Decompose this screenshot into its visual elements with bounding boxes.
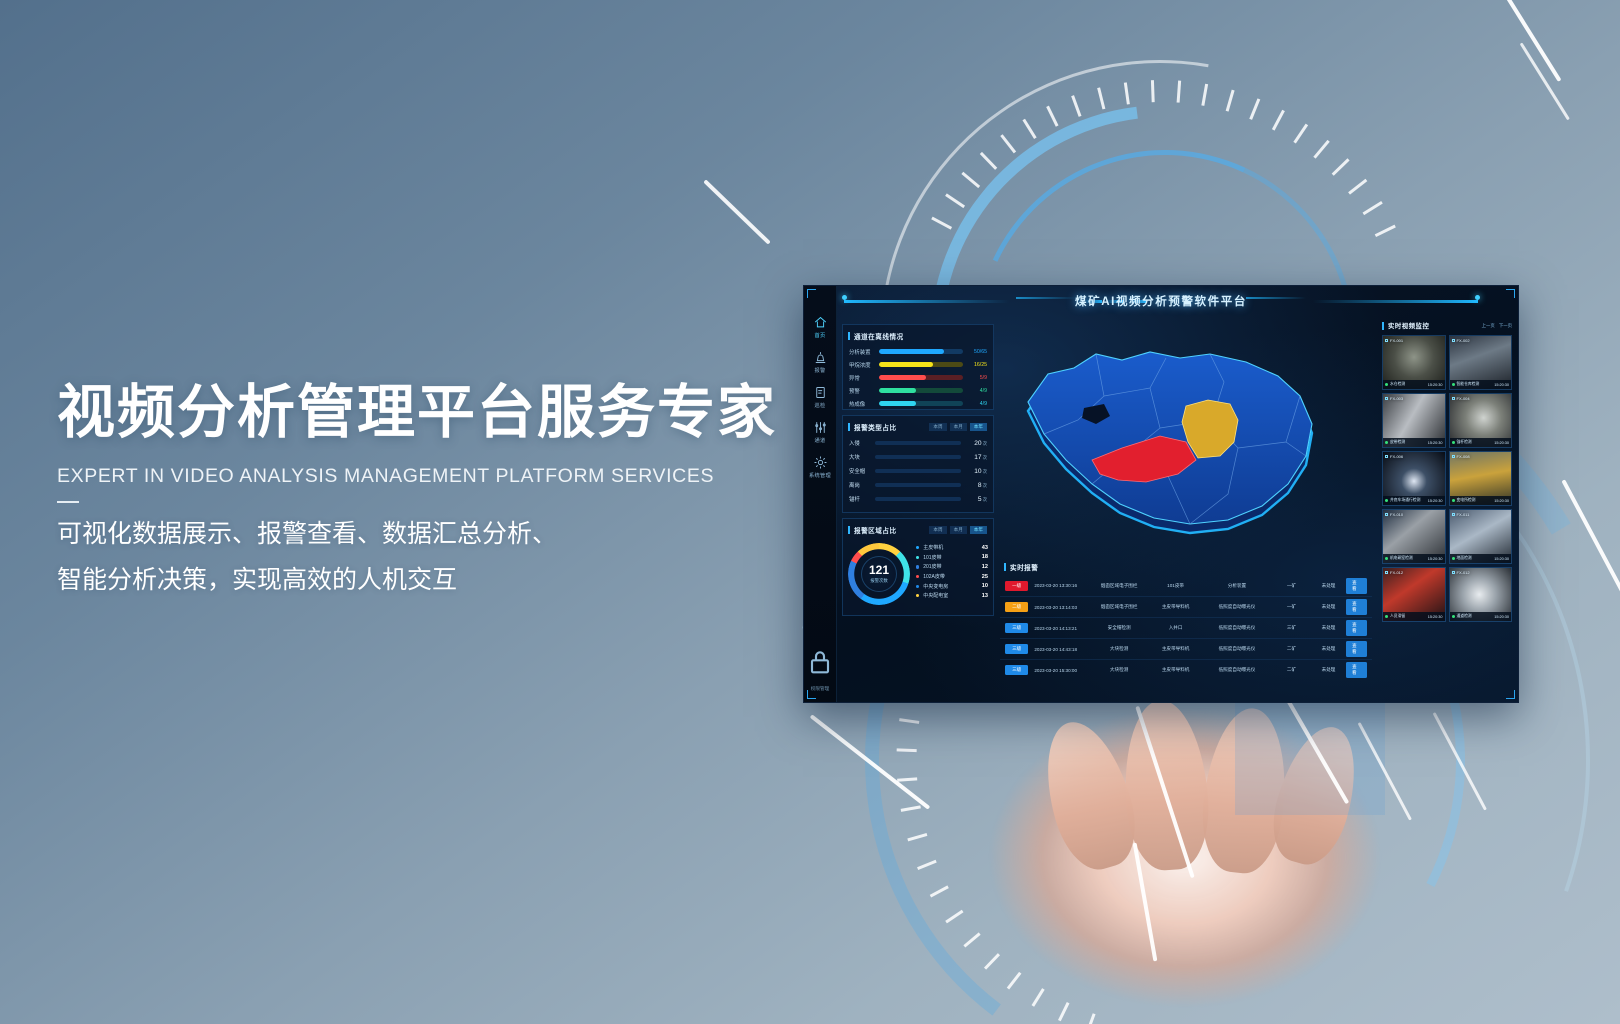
frame-corner [807,289,816,298]
accent-bar [848,423,850,431]
sidebar-item-3[interactable]: 巡检 [804,378,836,413]
status-badge: 一级 [1005,581,1028,591]
light-streak [1495,0,1562,82]
alarm-device: 低照度自动曝光仪 [1202,646,1272,652]
alarm-type: 大块检测 [1089,646,1149,652]
panel-header: 实时视频监控 上一页 下一页 [1382,319,1516,332]
sidebar-item-label: 首页 [804,332,836,339]
alarm-status: 未处理 [1311,625,1346,631]
alarm-device: 分析装置 [1202,583,1272,589]
alarm-time: 2023-03-20 13:14:03 [1028,605,1089,610]
alarm-type-tabs[interactable]: 本周本月本年 [929,423,987,431]
legend-value: 13 [982,593,988,599]
video-name: 锚杆检测 [1457,440,1472,445]
channel-label: 热成像 [849,400,879,408]
tick-mark [945,193,965,208]
video-tile[interactable]: FX-012通道检测15:20:30 [1449,567,1513,622]
accent-bar [1004,563,1006,571]
channel-label: 预警 [849,387,879,395]
video-tile[interactable]: FX-004锚杆检测15:20:30 [1449,393,1513,448]
province-map[interactable] [1000,324,1372,554]
video-name: 机电硐室检测 [1390,556,1413,561]
video-name: 智能仓库检测 [1457,382,1480,387]
legend-label: 主皮带机 [923,544,982,551]
tick-mark [1000,134,1016,153]
alarm-type-panel: 报警类型占比 本周本月本年 入侵20次大块17次安全帽10次离岗8次锚杆5次 [842,415,994,513]
frame-corner [807,690,816,699]
alarm-type: 安全帽检测 [1089,625,1149,631]
alarm-type-value: 8次 [961,482,987,489]
progress-track [879,388,963,392]
video-tile[interactable]: FX-006井底车场通行检测15:20:30 [1382,451,1446,506]
alarm-status: 未处理 [1311,646,1346,652]
video-time: 15:20:30 [1494,441,1509,445]
sidebar-item-label: 巡检 [804,402,836,409]
alarm-location: 主皮带导料机 [1149,667,1202,673]
video-id-label: FX-012 [1385,570,1403,575]
online-status-dot [1385,615,1388,618]
legend-label: 中央配电室 [923,592,982,599]
tick-mark [1226,90,1235,112]
video-name: 井底车场通行检测 [1390,498,1420,503]
alarm-mine: 二矿 [1272,646,1311,652]
sidebar-item-label: 系统管理 [804,472,836,479]
inspection-icon [813,385,828,400]
legend-dot [916,594,919,597]
alarm-type-label: 入侵 [849,439,875,447]
tick-mark [1124,82,1130,104]
accent-bar [848,332,850,340]
realtime-alarm-title: 实时报警 [1010,562,1038,572]
frame-corner [1506,289,1515,298]
alarm-mine: 三矿 [1272,625,1311,631]
video-id-label: FX-012 [1452,570,1470,575]
video-name: 皮带检测 [1390,440,1405,445]
tick-mark [930,885,949,897]
frame-corner [1506,690,1515,699]
video-time: 15:20:30 [1494,499,1509,503]
video-tile[interactable]: FX-002智能仓库检测15:20:30 [1449,335,1513,390]
channel-status-row: 分析装置50/65 [843,345,993,358]
video-footer: 井底车场通行检测15:20:30 [1383,496,1445,505]
alarm-type-row: 离岗8次 [843,478,993,492]
video-footer: 变电所检测15:20:30 [1450,496,1512,505]
alarm-area-tab[interactable]: 本年 [970,526,987,534]
legend-item: 中央变电房10 [916,581,988,591]
video-id-label: FX-004 [1452,396,1470,401]
online-status-dot [1385,557,1388,560]
alarm-type: 大块检测 [1089,667,1149,673]
alarm-type-value: 17次 [961,454,987,461]
legend-item: 中央配电室13 [916,591,988,601]
video-footer: 智能仓库检测15:20:30 [1450,380,1512,389]
alarm-mine: 一矿 [1272,583,1311,589]
legend-value: 12 [982,564,988,570]
video-name: 变电所检测 [1457,498,1476,503]
video-footer: 机电硐室检测15:20:30 [1383,554,1445,563]
tick-mark [1058,1002,1069,1021]
online-status-dot [1385,383,1388,386]
video-name: 水仓检测 [1390,382,1405,387]
progress-track [875,455,961,459]
alarm-area-donut-chart: 121 报警次数 [848,543,910,605]
alarm-location: 主皮带导料机 [1149,604,1202,610]
tick-mark [1272,110,1285,131]
legend-dot [916,546,919,549]
home-icon [813,315,828,330]
sidebar-item-2[interactable]: 报警 [804,343,836,378]
video-monitor-panel: 实时视频监控 上一页 下一页 FX-001水仓检测15:20:30FX-002智… [1378,316,1516,696]
donut-legend: 主皮带机43101皮带18201皮带12102A皮带25中央变电房10中央配电室… [910,543,988,605]
tick-mark [963,932,980,947]
video-id-label: FX-001 [1385,338,1403,343]
alarm-icon [813,350,828,365]
table-row: 三级2023-03-20 14:43:18大块检测主皮带导料机低照度自动曝光仪二… [1000,638,1372,659]
channel-status-row: 甲烷浓度16/25 [843,358,993,371]
panel-header: 报警区域占比 本周本月本年 [848,523,993,536]
legend-dot [916,585,919,588]
legend-dot [916,575,919,578]
progress-track [875,441,961,445]
tick-mark [945,910,963,924]
online-status-dot [1452,441,1455,444]
donut-center: 121 报警次数 [861,556,897,592]
tick-mark [1007,972,1022,990]
legend-label: 201皮带 [923,563,982,570]
tick-mark [1071,95,1081,117]
video-id-label: FX-010 [1385,512,1403,517]
tick-mark [1249,98,1260,120]
alarm-device: 低照度自动曝光仪 [1202,604,1272,610]
tick-mark [980,152,997,170]
tick-mark [897,777,917,781]
page-title: 视频分析管理平台服务专家 [57,380,817,447]
video-footer: 皮带检测15:20:30 [1383,438,1445,447]
video-id-label: FX-008 [1452,454,1470,459]
sidebar-item-label: 通道 [804,437,836,444]
alarm-type-row: 锚杆5次 [843,492,993,506]
hero-line-2: 智能分析决策，实现高效的人机交互 [57,557,817,603]
channel-value: 50/65 [963,349,987,355]
tick-mark [917,860,937,870]
light-streak [703,179,771,244]
online-status-dot [1452,499,1455,502]
channel-status-panel: 通道在离线情况 分析装置50/65甲烷浓度16/25异常5/9预警4/9热成像4… [842,324,994,410]
sidebar-item-label: 报警 [804,367,836,374]
progress-track [879,349,963,353]
tick-mark [1293,124,1308,144]
alarm-type-row: 安全帽10次 [843,464,993,478]
video-footer: 通道检测15:20:30 [1450,612,1512,621]
view-button[interactable]: 查看 [1346,662,1367,678]
alarm-type-panel-title: 报警类型占比 [854,422,897,432]
video-footer: 水仓检测15:20:30 [1383,380,1445,389]
legend-item: 主皮带机43 [916,543,988,553]
legend-item: 201皮带12 [916,562,988,572]
status-badge: 三级 [1005,665,1028,675]
video-id-label: FX-002 [1452,338,1470,343]
tick-mark [1032,988,1045,1007]
progress-track [879,401,963,405]
channel-value: 4/9 [963,401,987,407]
alarm-area-panel: 报警区域占比 本周本月本年 121 报警次数 主皮带机43101皮带18201皮… [842,518,994,616]
channel-value: 16/25 [963,362,987,368]
donut-value: 121 [869,564,889,576]
legend-value: 25 [982,574,988,580]
panel-header: 实时报警 [1004,561,1372,573]
tick-mark [1332,158,1350,175]
tick-mark [1348,179,1367,195]
status-badge: 三级 [1005,644,1028,654]
tick-mark [1097,87,1105,109]
legend-item: 101皮带18 [916,553,988,563]
table-row: 一级2023-03-20 13:30:16烟囱区域电子围栏101皮带分析装置一矿… [1000,575,1372,596]
video-tile[interactable]: FX-001水仓检测15:20:30 [1382,335,1446,390]
alarm-type-label: 安全帽 [849,467,875,475]
tick-mark [1151,80,1155,102]
progress-track [879,375,963,379]
prev-page-button[interactable]: 上一页 [1482,323,1495,329]
alarm-type-label: 离岗 [849,481,875,489]
channel-panel-title: 通道在离线情况 [854,331,904,341]
alarm-area-tab[interactable]: 本月 [950,526,967,534]
alarm-type-value: 10次 [961,468,987,475]
dashboard-title: 煤矿AI视频分析预警软件平台 [804,293,1518,309]
channel-status-row: 预警4/9 [843,384,993,397]
sidebar-item-permissions[interactable]: 权限管理 [804,647,836,692]
divider [57,501,79,503]
alarm-location: 101皮带 [1149,583,1202,589]
hero-copy: 视频分析管理平台服务专家 EXPERT IN VIDEO ANALYSIS MA… [57,380,817,603]
video-id-label: FX-011 [1452,512,1470,517]
video-time: 15:20:30 [1494,615,1509,619]
alarm-area-tabs[interactable]: 本周本月本年 [929,526,987,534]
online-status-dot [1452,615,1455,618]
view-button[interactable]: 查看 [1346,578,1367,594]
alarm-area-panel-title: 报警区域占比 [854,525,897,535]
realtime-alarm-table: 实时报警 一级2023-03-20 13:30:16烟囱区域电子围栏101皮带分… [1000,558,1372,696]
sidebar-item-1[interactable]: 首页 [804,308,836,343]
video-tile[interactable]: FX-010机电硐室检测15:20:30 [1382,509,1446,564]
accent-bar [1382,322,1384,330]
table-row: 三级2023-03-20 14:13:21安全帽检测入井口低照度自动曝光仪三矿未… [1000,617,1372,638]
alarm-type-value: 20次 [961,440,987,447]
online-status-dot [1385,499,1388,502]
video-time: 15:20:30 [1428,499,1443,503]
video-footer: 人员滞留15:20:30 [1383,612,1445,621]
legend-label: 102A皮带 [923,573,982,580]
alarm-type-tab[interactable]: 本周 [929,423,946,431]
tick-mark [961,172,980,188]
alarm-type-value: 5次 [961,496,987,503]
video-footer: 地面检测15:20:30 [1450,554,1512,563]
legend-dot [916,556,919,559]
channel-label: 甲烷浓度 [849,361,879,369]
alarm-status: 未处理 [1311,583,1346,589]
alarm-type-row: 大块17次 [843,450,993,464]
progress-track [875,497,961,501]
channel-value: 4/9 [963,388,987,394]
video-time: 15:20:30 [1428,441,1443,445]
video-tile[interactable]: FX-003皮带检测15:20:30 [1382,393,1446,448]
online-status-dot [1385,441,1388,444]
alarm-area-tab[interactable]: 本周 [929,526,946,534]
alarm-mine: 二矿 [1272,667,1311,673]
legend-value: 10 [982,583,988,589]
progress-track [879,362,963,366]
alarm-time: 2023-03-20 14:43:18 [1028,647,1089,652]
panel-header: 通道在离线情况 [848,329,993,342]
tick-mark [1201,84,1208,106]
legend-item: 102A皮带25 [916,572,988,582]
tick-mark [897,748,917,752]
tick-mark [1375,225,1396,237]
dashboard-monitor: 煤矿AI视频分析预警软件平台 首页报警巡检通道系统管理 权限管理 通道在离线情况… [803,285,1519,703]
alarm-time: 2023-03-20 14:13:21 [1028,626,1089,631]
video-time: 15:20:30 [1494,557,1509,561]
tick-mark [931,217,952,230]
alarm-location: 主皮带导料机 [1149,646,1202,652]
table-row: 三级2023-03-20 15:30:00大块检测主皮带导料机低照度自动曝光仪二… [1000,659,1372,680]
dashboard-sidebar: 首页报警巡检通道系统管理 权限管理 [804,286,837,702]
channel-label: 异常 [849,374,879,382]
legend-label: 101皮带 [923,554,982,561]
video-tile[interactable]: FX-008变电所检测15:20:30 [1449,451,1513,506]
online-status-dot [1452,557,1455,560]
online-status-dot [1452,383,1455,386]
progress-track [875,483,961,487]
channel-status-row: 热成像4/9 [843,397,993,410]
tick-mark [1086,1013,1096,1024]
status-badge: 三级 [1005,623,1028,633]
alarm-location: 入井口 [1149,625,1202,631]
tick-mark [1177,81,1182,103]
alarm-type-label: 大块 [849,453,875,461]
video-tile[interactable]: FX-012人员滞留15:20:30 [1382,567,1446,622]
accent-bar [848,526,850,534]
alarm-type-row: 入侵20次 [843,436,993,450]
view-button[interactable]: 查看 [1346,641,1367,657]
channel-status-row: 异常5/9 [843,371,993,384]
tick-mark [1046,106,1058,127]
tick-mark [901,805,921,811]
user-lock-icon [804,666,836,683]
dashboard-header: 煤矿AI视频分析预警软件平台 [804,286,1518,320]
video-id-label: FX-006 [1385,454,1403,459]
video-time: 15:20:30 [1428,557,1443,561]
video-id-label: FX-003 [1385,396,1403,401]
video-panel-title: 实时视频监控 [1388,321,1429,330]
view-button[interactable]: 查看 [1346,599,1367,615]
progress-track [875,469,961,473]
hero-subhead-en: EXPERT IN VIDEO ANALYSIS MANAGEMENT PLAT… [57,465,817,488]
channel-label: 分析装置 [849,348,879,356]
status-badge: 二级 [1005,602,1028,612]
legend-value: 18 [982,554,988,560]
map-svg [1000,324,1372,554]
hero-line-1: 可视化数据展示、报警查看、数据汇总分析、 [57,511,817,557]
gear-icon [813,455,828,470]
video-time: 15:20:30 [1428,615,1443,619]
alarm-mine: 一矿 [1272,604,1311,610]
tick-mark [984,953,1000,969]
legend-dot [916,565,919,568]
tick-mark [907,833,927,841]
sidebar-item-4[interactable]: 通道 [804,413,836,448]
video-time: 15:20:30 [1428,383,1443,387]
alarm-status: 未处理 [1311,604,1346,610]
video-name: 人员滞留 [1390,614,1405,619]
tick-mark [899,718,919,724]
alarm-type: 烟囱区域电子围栏 [1089,583,1149,589]
left-column: 通道在离线情况 分析装置50/65甲烷浓度16/25异常5/9预警4/9热成像4… [842,324,994,616]
alarm-time: 2023-03-20 13:30:16 [1028,583,1089,588]
alarm-type-tab[interactable]: 本月 [950,423,967,431]
alarm-status: 未处理 [1311,667,1346,673]
alarm-device: 低照度自动曝光仪 [1202,625,1272,631]
view-button[interactable]: 查看 [1346,620,1367,636]
legend-label: 中央变电房 [923,583,982,590]
legend-value: 43 [982,545,988,551]
channel-icon [813,420,828,435]
alarm-type-label: 锚杆 [849,495,875,503]
sidebar-item-5[interactable]: 系统管理 [804,448,836,483]
channel-value: 5/9 [963,375,987,381]
video-footer: 锚杆检测15:20:30 [1450,438,1512,447]
video-tile[interactable]: FX-011地面检测15:20:30 [1449,509,1513,564]
alarm-device: 低照度自动曝光仪 [1202,667,1272,673]
tick-mark [1022,119,1036,139]
video-name: 通道检测 [1457,614,1472,619]
tick-mark [1363,201,1383,215]
alarm-type: 烟囱区域电子围栏 [1089,604,1149,610]
alarm-type-tab[interactable]: 本年 [970,423,987,431]
tick-mark [1313,140,1329,159]
donut-caption: 报警次数 [870,578,888,584]
panel-header: 报警类型占比 本周本月本年 [848,420,993,433]
alarm-time: 2023-03-20 15:30:00 [1028,668,1089,673]
next-page-button[interactable]: 下一页 [1499,323,1512,329]
table-row: 二级2023-03-20 13:14:03烟囱区域电子围栏主皮带导料机低照度自动… [1000,596,1372,617]
video-name: 地面检测 [1457,556,1472,561]
video-time: 15:20:30 [1494,383,1509,387]
